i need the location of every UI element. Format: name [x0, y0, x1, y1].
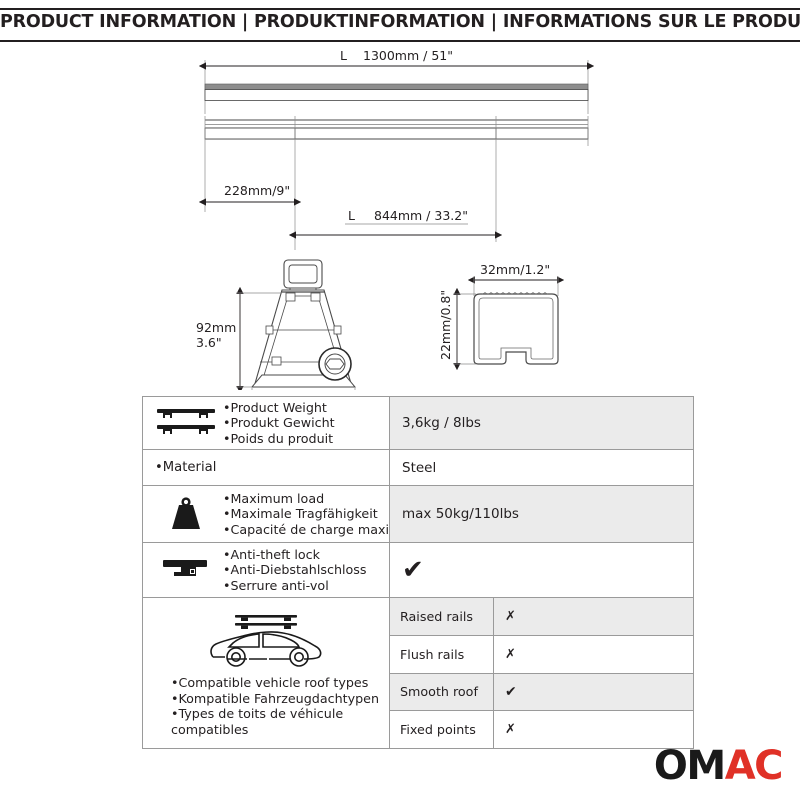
roof-type-options: Raised rails ✗ Flush rails ✗ Smooth roof…	[390, 598, 693, 748]
dim-span-prefix: L	[348, 208, 355, 223]
dim-foot-height-line1: 92mm	[196, 320, 236, 335]
spec-label-line: compatibles	[171, 722, 379, 738]
option-label: Flush rails	[390, 636, 494, 673]
roof-type-option-raised-rails: Raised rails ✗	[390, 598, 693, 636]
option-label: Fixed points	[390, 711, 494, 748]
spec-label-text: •Compatible vehicle roof types •Kompatib…	[149, 675, 379, 737]
spec-value-lock: ✔	[390, 543, 693, 597]
spec-label-text: •Product Weight •Produkt Gewicht •Poids …	[223, 400, 384, 447]
spec-label-line: •Anti-Diebstahlschloss	[223, 562, 384, 578]
dim-overall-length-prefix: L	[340, 48, 347, 63]
table-row: •Anti-theft lock •Anti-Diebstahlschloss …	[143, 543, 693, 598]
spec-value-maxload: max 50kg/110lbs	[390, 486, 693, 542]
roof-type-option-flush-rails: Flush rails ✗	[390, 636, 693, 674]
spec-label-line: •Compatible vehicle roof types	[171, 675, 379, 691]
page-header: PRODUCT INFORMATION | PRODUKTINFORMATION…	[0, 0, 800, 42]
table-row: •Product Weight •Produkt Gewicht •Poids …	[143, 397, 693, 450]
dim-profile-width: 32mm/1.2"	[480, 262, 550, 277]
spec-value-material: Steel	[390, 450, 693, 485]
car-with-rack-icon	[201, 609, 331, 671]
cross-mark-icon: ✗	[494, 636, 693, 673]
dim-overall-length: 1300mm / 51"	[363, 48, 453, 63]
technical-drawing-svg: L 1300mm / 51" 228mm/9" L 844mm / 33.2" …	[0, 42, 800, 390]
spec-label-cell: •Compatible vehicle roof types •Kompatib…	[143, 598, 390, 748]
technical-drawing: L 1300mm / 51" 228mm/9" L 844mm / 33.2" …	[0, 42, 800, 390]
header-rule-top	[0, 8, 800, 10]
logo-text-om: OM	[654, 743, 725, 789]
spec-label-line: •Material	[155, 460, 384, 476]
spec-label-cell: •Maximum load •Maximale Tragfähigkeit •C…	[143, 486, 390, 542]
crossbar-pair-icon	[149, 406, 223, 440]
cross-mark-icon: ✗	[494, 598, 693, 635]
spec-label-line: •Kompatible Fahrzeugdachtypen	[171, 691, 379, 707]
spec-label-text: •Material	[155, 460, 384, 476]
spec-label-line: •Types de toits de véhicule	[171, 706, 379, 722]
dim-end-offset: 228mm/9"	[224, 183, 290, 198]
dim-span: 844mm / 33.2"	[374, 208, 468, 223]
roof-type-option-smooth-roof: Smooth roof ✔	[390, 674, 693, 712]
dim-profile-height: 22mm/0.8"	[438, 290, 453, 360]
option-label: Raised rails	[390, 598, 494, 635]
check-mark-icon: ✔	[402, 557, 424, 583]
logo-text-ac: AC	[725, 743, 782, 789]
table-row: •Maximum load •Maximale Tragfähigkeit •C…	[143, 486, 693, 543]
roof-type-option-fixed-points: Fixed points ✗	[390, 711, 693, 748]
spec-label-cell: •Material	[143, 450, 390, 485]
spec-label-line: •Poids du produit	[223, 431, 384, 447]
spec-label-line: •Anti-theft lock	[223, 547, 384, 563]
spec-label-line: •Product Weight	[223, 400, 384, 416]
weight-icon	[149, 496, 223, 532]
spec-label-line: •Produkt Gewicht	[223, 415, 384, 431]
check-mark-icon: ✔	[494, 674, 693, 711]
table-row: •Compatible vehicle roof types •Kompatib…	[143, 598, 693, 748]
spec-label-cell: •Product Weight •Produkt Gewicht •Poids …	[143, 397, 390, 449]
dim-foot-height-line2: 3.6"	[196, 335, 222, 350]
table-row: •Material Steel	[143, 450, 693, 486]
spec-label-cell: •Anti-theft lock •Anti-Diebstahlschloss …	[143, 543, 390, 597]
spec-label-text: •Anti-theft lock •Anti-Diebstahlschloss …	[223, 547, 384, 594]
spec-label-line: •Serrure anti-vol	[223, 578, 384, 594]
lock-icon	[149, 556, 223, 584]
specification-table: •Product Weight •Produkt Gewicht •Poids …	[142, 396, 694, 749]
spec-value-weight: 3,6kg / 8lbs	[390, 397, 693, 449]
option-label: Smooth roof	[390, 674, 494, 711]
page-title: PRODUCT INFORMATION | PRODUKTINFORMATION…	[0, 12, 800, 32]
omac-logo: OMAC	[654, 746, 782, 786]
